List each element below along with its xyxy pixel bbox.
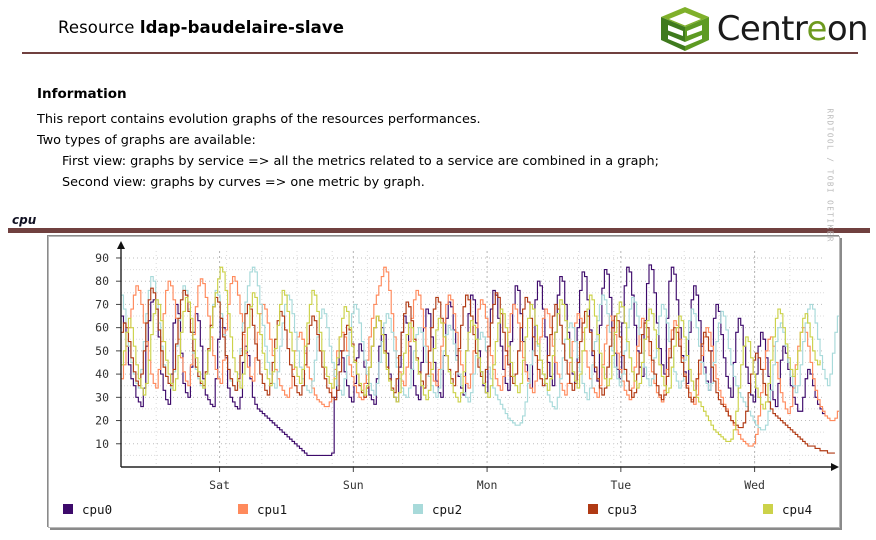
legend-swatch-icon (588, 504, 598, 514)
legend-label: cpu0 (82, 502, 112, 517)
svg-text:Mon: Mon (477, 478, 498, 489)
legend-swatch-icon (63, 504, 73, 514)
information-line-3: First view: graphs by service => all the… (37, 151, 737, 172)
legend-label: cpu4 (782, 502, 812, 517)
legend-item[interactable]: cpu2 (413, 502, 588, 517)
legend-swatch-icon (238, 504, 248, 514)
header-divider (22, 52, 858, 54)
legend-label: cpu1 (257, 502, 287, 517)
information-line-4: Second view: graphs by curves => one met… (37, 172, 737, 193)
svg-text:Sun: Sun (343, 478, 364, 489)
legend-item[interactable]: cpu0 (63, 502, 238, 517)
svg-text:70: 70 (95, 297, 109, 311)
chart-series-layer (121, 265, 839, 455)
resource-name: ldap-baudelaire-slave (140, 18, 344, 37)
section-divider (8, 228, 870, 233)
svg-text:60: 60 (95, 321, 109, 335)
legend-swatch-icon (413, 504, 423, 514)
svg-text:50: 50 (95, 344, 109, 358)
information-title: Information (37, 86, 737, 102)
chart-y-axis-ticks: 102030405060708090 (95, 251, 121, 451)
page-title: Resource ldap-baudelaire-slave (58, 18, 344, 37)
report-page: Resource ldap-baudelaire-slave Centreon … (0, 0, 876, 540)
wordmark-part-4: on (827, 9, 868, 49)
svg-text:10: 10 (95, 437, 109, 451)
legend-label: cpu3 (607, 502, 637, 517)
wordmark-part-3: e (807, 9, 827, 49)
series-cpu4 (121, 267, 820, 441)
cpu-chart-svg: 102030405060708090 SatSunMonTueWed (49, 237, 839, 489)
svg-text:30: 30 (95, 390, 109, 404)
svg-text:Sat: Sat (209, 478, 230, 489)
series-cpu2 (121, 267, 839, 430)
wordmark-part-2: entr (740, 9, 807, 49)
svg-text:90: 90 (95, 251, 109, 265)
section-label-cpu: cpu (12, 213, 36, 227)
legend-swatch-icon (763, 504, 773, 514)
centreon-wordmark: Centreon (717, 12, 868, 46)
svg-text:Wed: Wed (744, 478, 765, 489)
legend-label: cpu2 (432, 502, 462, 517)
svg-text:20: 20 (95, 414, 109, 428)
chart-x-axis-ticks: SatSunMonTueWed (209, 467, 765, 489)
resource-label: Resource (58, 18, 134, 37)
svg-text:80: 80 (95, 274, 109, 288)
legend-item[interactable]: cpu4 (763, 502, 876, 517)
centreon-cube-logo-icon (659, 6, 711, 52)
cpu-graph-panel: 102030405060708090 SatSunMonTueWed RRDTO… (48, 236, 840, 528)
legend-item[interactable]: cpu1 (238, 502, 413, 517)
report-header: Resource ldap-baudelaire-slave Centreon (0, 0, 876, 55)
chart-legend: cpu0 cpu1 cpu2 cpu3 cpu4 (49, 491, 839, 527)
cpu-chart: 102030405060708090 SatSunMonTueWed (49, 237, 839, 489)
centreon-brand: Centreon (659, 6, 868, 52)
information-line-2: Two types of graphs are available: (37, 130, 737, 151)
wordmark-part-1: C (717, 9, 740, 49)
svg-text:40: 40 (95, 367, 109, 381)
svg-text:Tue: Tue (610, 478, 631, 489)
information-line-1: This report contains evolution graphs of… (37, 109, 737, 130)
rrdtool-watermark: RRDTOOL / TOBI OETIKER (826, 108, 835, 243)
legend-item[interactable]: cpu3 (588, 502, 763, 517)
information-block: Information This report contains evoluti… (37, 86, 737, 193)
